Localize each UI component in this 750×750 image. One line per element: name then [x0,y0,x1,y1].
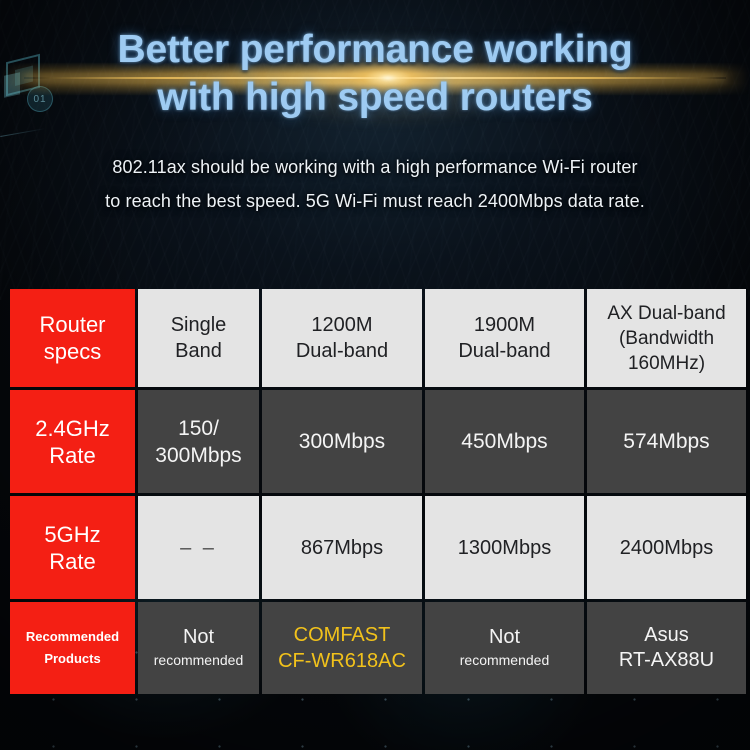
cell-line-2: 300Mbps [155,442,241,469]
table-header-label-line-1: Router [39,311,105,338]
cell-24ghz-1900m: 450Mbps [425,390,584,493]
table-header-cell-ax-dual-band: AX Dual-band (Bandwidth 160MHz) [587,289,746,387]
header-line-3: 160MHz) [628,351,705,376]
row-label-line-1: Recommended [26,626,119,648]
row-label-24ghz: 2.4GHz Rate [10,390,135,493]
cell-line-1: Not [183,625,214,650]
cell-line-1: 1300Mbps [458,535,551,561]
cell-line-1: COMFAST [294,622,391,648]
cell-5ghz-ax: 2400Mbps [587,496,746,598]
subcopy: 802.11ax should be working with a high p… [0,150,750,218]
header-line-1: 1900M [474,312,535,338]
table-header-row: Router specs Single Band 1200M Dual-band… [10,289,740,387]
header-line-2: Dual-band [296,338,388,364]
row-label-recommended-products: Recommended Products [10,602,135,694]
cell-line-1: 150/ [178,415,219,442]
cell-line-2: CF-WR618AC [278,648,406,674]
cell-recommended-single-band: Not recommended [138,602,259,694]
table-header-cell-single-band: Single Band [138,289,259,387]
cell-5ghz-1900m: 1300Mbps [425,496,584,598]
headline: Better performance working with high spe… [0,26,750,122]
row-label-line-1: 5GHz [44,521,100,548]
table-row: 5GHz Rate – – 867Mbps 1300Mbps 2400Mbps [10,496,740,598]
row-label-line-2: Rate [49,442,95,469]
cell-line-1: Not [489,625,520,650]
cell-24ghz-1200m: 300Mbps [262,390,422,493]
header-line-2: (Bandwidth [619,326,714,351]
subcopy-line-2: to reach the best speed. 5G Wi-Fi must r… [0,184,750,218]
cell-line-1: 450Mbps [461,428,547,455]
table-header-cell-1200m: 1200M Dual-band [262,289,422,387]
row-label-5ghz: 5GHz Rate [10,496,135,598]
cell-recommended-1900m: Not recommended [425,602,584,694]
cell-24ghz-ax: 574Mbps [587,390,746,493]
row-label-line-2: Products [44,648,100,670]
table-header-label-cell: Router specs [10,289,135,387]
cell-line-2: recommended [154,650,244,670]
headline-line-1: Better performance working [0,26,750,74]
cell-line-2: RT-AX88U [619,648,714,673]
header-line-2: Band [175,338,222,364]
row-label-line-1: 2.4GHz [35,415,110,442]
header-line-1: AX Dual-band [607,301,725,326]
cell-recommended-1200m: COMFAST CF-WR618AC [262,602,422,694]
header-line-1: Single [171,312,227,338]
subcopy-line-1: 802.11ax should be working with a high p… [0,150,750,184]
cell-5ghz-single-band: – – [138,496,259,598]
promo-banner: 01 Better performance working with high … [0,0,750,750]
table-row: 2.4GHz Rate 150/ 300Mbps 300Mbps 450Mbps… [10,390,740,493]
headline-line-2: with high speed routers [0,74,750,122]
cell-line-1: 574Mbps [623,428,709,455]
header-line-1: 1200M [311,312,372,338]
header-line-2: Dual-band [458,338,550,364]
row-label-line-2: Rate [49,548,95,575]
cell-line-1: Asus [644,623,688,648]
cell-line-1: 300Mbps [299,428,385,455]
cell-24ghz-single-band: 150/ 300Mbps [138,390,259,493]
router-specs-table: Router specs Single Band 1200M Dual-band… [10,289,740,694]
table-row: Recommended Products Not recommended COM… [10,602,740,694]
cell-recommended-ax: Asus RT-AX88U [587,602,746,694]
cell-line-1: 2400Mbps [620,535,713,561]
cell-line-2: recommended [460,650,550,670]
cell-5ghz-1200m: 867Mbps [262,496,422,598]
table-header-label-line-2: specs [44,338,101,365]
cell-line-1: – – [180,535,217,561]
cell-line-1: 867Mbps [301,535,383,561]
table-header-cell-1900m: 1900M Dual-band [425,289,584,387]
